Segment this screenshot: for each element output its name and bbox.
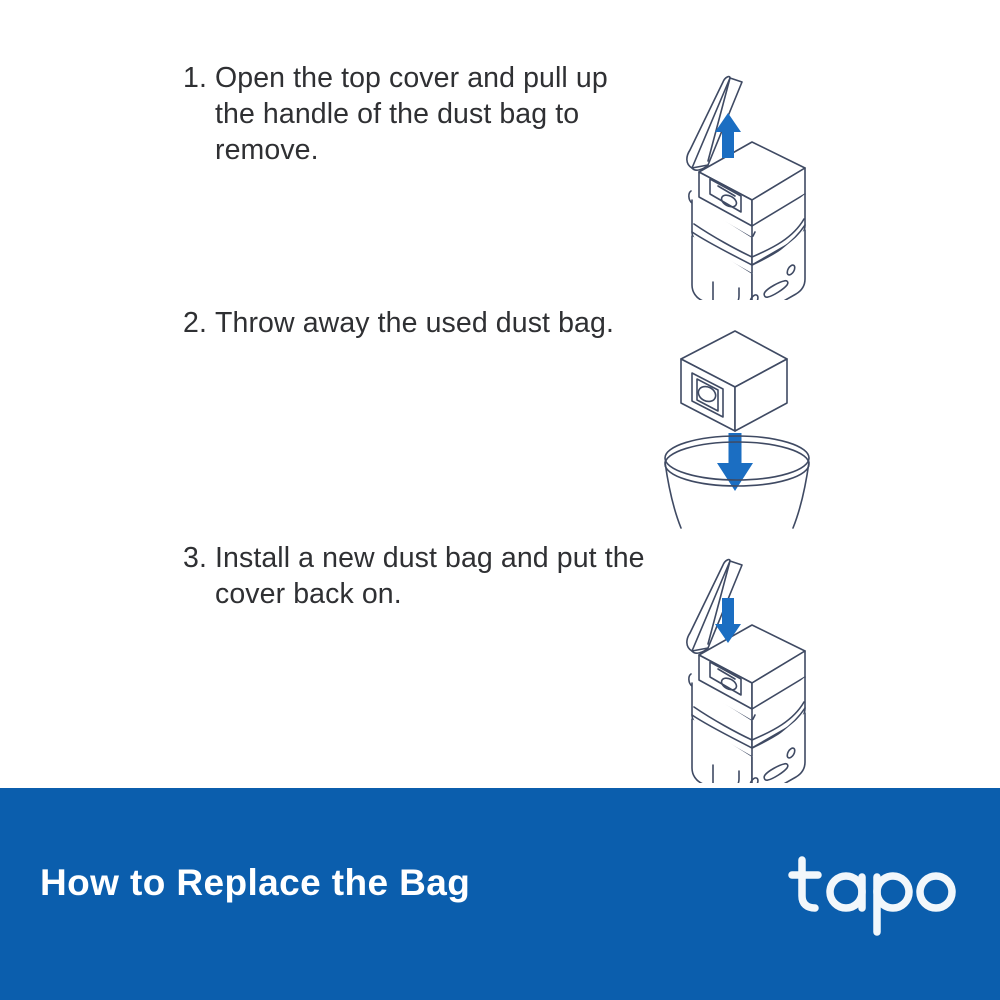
step-2: 2. Throw away the used dust bag. [0,305,1000,535]
step-1-text: 1. Open the top cover and pull up the ha… [183,60,653,168]
step-3-body: Install a new dust bag and put the cover… [215,540,653,612]
step-3-text: 3. Install a new dust bag and put the co… [183,540,653,612]
vacuum-base-open-lid-arrow-up-illustration [655,60,830,300]
step-2-text: 2. Throw away the used dust bag. [183,305,653,341]
step-1-number: 1. [183,60,215,96]
dust-bag-into-trash-bin-illustration [645,323,830,538]
step-3: 3. Install a new dust bag and put the co… [0,540,1000,785]
step-1-body: Open the top cover and pull up the handl… [215,60,653,168]
vacuum-base-install-bag-arrow-down-illustration [655,543,830,783]
steps-area: 1. Open the top cover and pull up the ha… [0,0,1000,788]
step-2-number: 2. [183,305,215,341]
step-2-body: Throw away the used dust bag. [215,305,653,341]
instruction-card: 1. Open the top cover and pull up the ha… [0,0,1000,1000]
page-title: How to Replace the Bag [40,862,470,904]
step-3-number: 3. [183,540,215,576]
footer-banner: How to Replace the Bag [0,788,1000,1000]
step-1: 1. Open the top cover and pull up the ha… [0,60,1000,300]
tapo-logo [788,850,958,942]
